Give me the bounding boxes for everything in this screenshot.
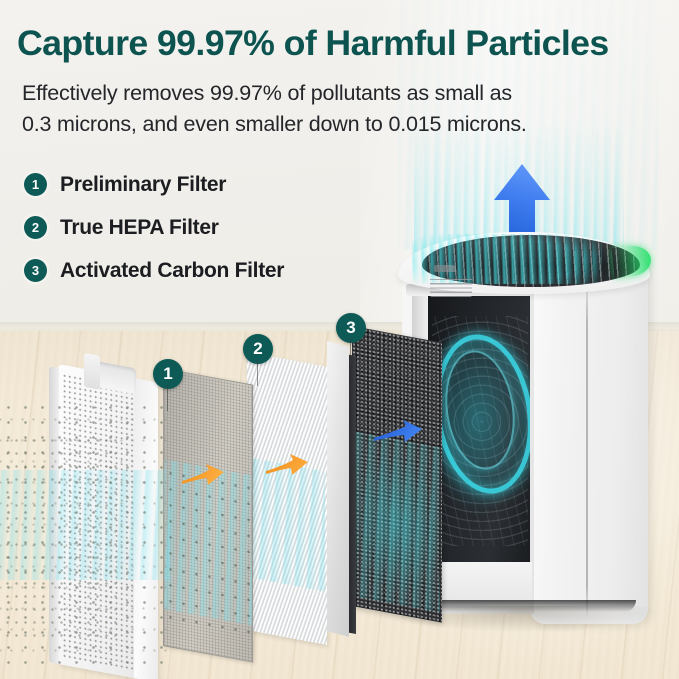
scene-marker-3-stem <box>350 339 351 365</box>
carbon-arrow-icon <box>372 418 424 450</box>
feature-badge-1: 1 <box>24 173 47 196</box>
preliminary-filter-panel <box>163 368 253 663</box>
subtitle-line-1: Effectively removes 99.97% of pollutants… <box>22 78 642 109</box>
subtitle: Effectively removes 99.97% of pollutants… <box>22 78 642 139</box>
feature-label-3: Activated Carbon Filter <box>60 259 284 283</box>
airborne-dust-particles-dense <box>0 430 120 645</box>
feature-list: 1 Preliminary Filter 2 True HEPA Filter … <box>24 163 284 292</box>
hepa-arrow-icon <box>264 452 310 482</box>
scene-marker-1-stem <box>167 385 168 411</box>
carbon-airflow-streaks <box>354 431 440 612</box>
subtitle-line-2: 0.3 microns, and even smaller down to 0.… <box>22 109 642 140</box>
scene-marker-3[interactable]: 3 <box>336 313 366 343</box>
page-title: Capture 99.97% of Harmful Particles <box>17 24 679 64</box>
feature-item-preliminary-filter: 1 Preliminary Filter <box>24 163 284 206</box>
purifier-panel-seam <box>586 272 588 620</box>
scene-marker-1[interactable]: 1 <box>153 359 183 389</box>
feature-label-1: Preliminary Filter <box>60 173 226 197</box>
hepa-filter-panel <box>247 352 327 645</box>
feature-label-2: True HEPA Filter <box>60 216 219 240</box>
prefilter-arrow-icon <box>180 462 226 492</box>
product-feature-graphic: 1 2 3 Capture 99.97% of Harmful Particle… <box>0 0 679 679</box>
control-panel-vent <box>430 277 472 297</box>
grille-handle-tab <box>84 353 100 390</box>
air-quality-led-indicator <box>612 244 653 278</box>
activated-carbon-filter-panel <box>352 326 442 623</box>
brand-logo-mark <box>434 265 456 272</box>
feature-item-activated-carbon-filter: 3 Activated Carbon Filter <box>24 249 284 292</box>
scene-marker-2-stem <box>257 360 258 386</box>
feature-item-true-hepa-filter: 2 True HEPA Filter <box>24 206 284 249</box>
scene-marker-2[interactable]: 2 <box>243 334 273 364</box>
hepa-filter-side-edge <box>327 341 349 637</box>
purifier-right-body <box>530 254 648 624</box>
feature-badge-3: 3 <box>24 259 47 282</box>
feature-badge-2: 2 <box>24 216 47 239</box>
